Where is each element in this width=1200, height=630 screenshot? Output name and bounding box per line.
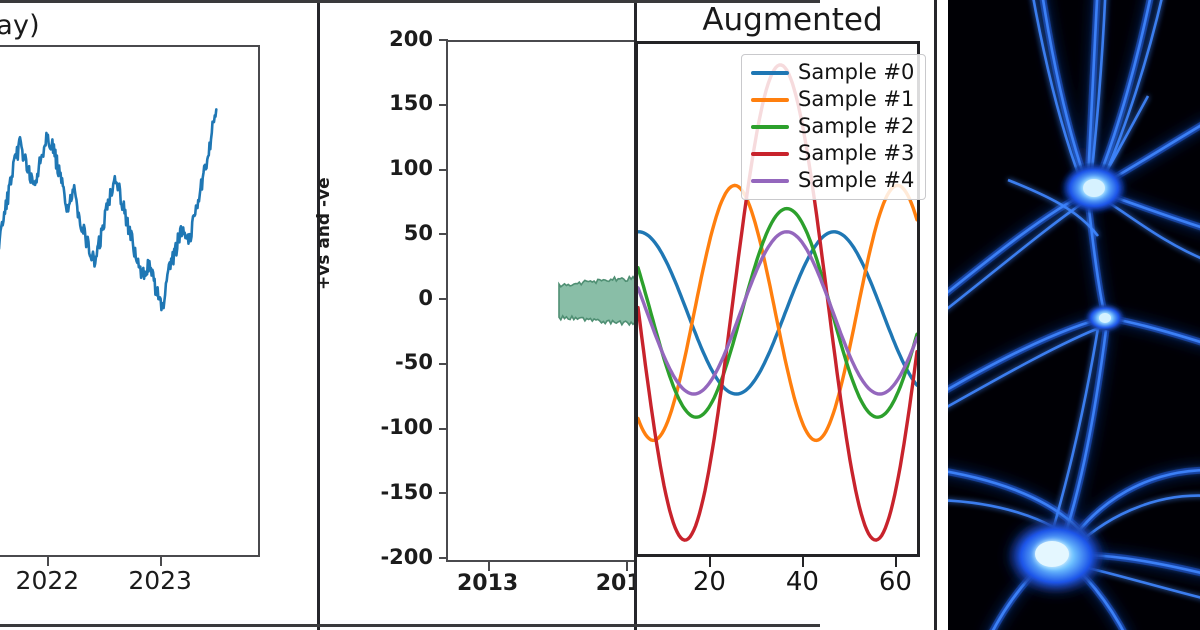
price-x-tick-label: 2022 — [16, 566, 80, 595]
neuron-nucleus-mid — [1099, 313, 1111, 323]
augmented-panel-title: Augmented — [637, 2, 948, 38]
legend-item-sample-0[interactable]: Sample #0 — [751, 62, 914, 83]
legend-item-label: Sample #0 — [798, 62, 914, 83]
augmented-x-ticks — [635, 557, 920, 567]
legend-color-swatch-icon — [751, 152, 789, 156]
band-y-tick-label: -150 — [380, 482, 433, 503]
price-plot-area — [0, 45, 260, 557]
band-y-tick-mark — [439, 104, 448, 106]
neuron-nucleus-bottom — [1035, 541, 1069, 567]
legend-item-label: Sample #2 — [798, 116, 914, 137]
augmented-x-tick-label: 20 — [693, 567, 726, 597]
band-y-tick-mark — [439, 492, 448, 494]
band-x-tick — [488, 562, 490, 571]
price-line-panel: er day) 02120222023 — [0, 0, 320, 630]
legend-item-sample-1[interactable]: Sample #1 — [751, 89, 914, 110]
band-y-tick-label: 0 — [418, 288, 433, 309]
neuron-nucleus-top — [1083, 179, 1105, 197]
band-y-tick-label: -50 — [395, 352, 433, 373]
augmented-series-line-0 — [638, 232, 917, 394]
band-y-tick-mark — [439, 428, 448, 430]
augmented-legend[interactable]: Sample #0Sample #1Sample #2Sample #3Samp… — [741, 54, 926, 200]
augmented-x-tick-label: 40 — [786, 567, 819, 597]
price-x-tick — [47, 557, 49, 566]
band-y-tick-mark — [439, 298, 448, 300]
legend-item-label: Sample #4 — [798, 170, 914, 191]
band-y-tick-label: 150 — [389, 93, 433, 114]
bottom-edge-rule — [0, 624, 820, 627]
augmented-x-tick-label: 60 — [879, 567, 912, 597]
band-y-tick-mark — [439, 363, 448, 365]
price-panel-title: er day) — [0, 10, 40, 41]
legend-color-swatch-icon — [751, 98, 789, 102]
legend-item-label: Sample #3 — [798, 143, 914, 164]
legend-item-sample-3[interactable]: Sample #3 — [751, 143, 914, 164]
augmented-x-tick — [709, 557, 711, 567]
augmented-x-labels: 204060 — [635, 567, 920, 607]
band-x-tick — [626, 562, 628, 571]
legend-color-swatch-icon — [751, 71, 789, 75]
band-panel: +vs and -ve 200150100500-50-100-150-200 … — [320, 0, 637, 630]
augmented-x-tick — [895, 557, 897, 567]
price-series-line — [0, 109, 216, 396]
augmented-x-tick — [802, 557, 804, 567]
band-y-tick-mark — [439, 233, 448, 235]
legend-item-label: Sample #1 — [798, 89, 914, 110]
top-edge-rule — [0, 0, 820, 3]
legend-item-sample-2[interactable]: Sample #2 — [751, 116, 914, 137]
band-y-tick-label: 50 — [404, 223, 433, 244]
neuron-image-panel — [948, 0, 1200, 630]
neuron-illustration — [948, 0, 1200, 630]
band-y-tick-label: 200 — [389, 29, 433, 50]
collage-root: er day) 02120222023 +vs and -ve 20015010… — [0, 0, 1200, 630]
band-y-tick-mark — [439, 39, 448, 41]
price-x-tick — [160, 557, 162, 566]
augmented-series-line-4 — [638, 232, 917, 394]
legend-color-swatch-icon — [751, 179, 789, 183]
price-line-svg — [0, 47, 258, 555]
band-y-tick-label: -200 — [380, 547, 433, 568]
band-x-tick-label: 2013 — [457, 571, 518, 596]
band-y-tick-label: 100 — [389, 158, 433, 179]
price-x-labels: 02120222023 — [0, 566, 260, 606]
band-y-tick-mark — [439, 169, 448, 171]
band-y-tick-mark — [439, 557, 448, 559]
augmented-panel: Augmented Sample #0Sample #1Sample #2Sam… — [637, 0, 948, 630]
band-y-axis-label: +vs and -ve — [314, 177, 334, 290]
legend-color-swatch-icon — [751, 125, 789, 129]
price-x-tick-label: 2023 — [128, 566, 192, 595]
legend-item-sample-4[interactable]: Sample #4 — [751, 170, 914, 191]
band-y-tick-label: -100 — [380, 417, 433, 438]
divider-3 — [934, 0, 937, 630]
